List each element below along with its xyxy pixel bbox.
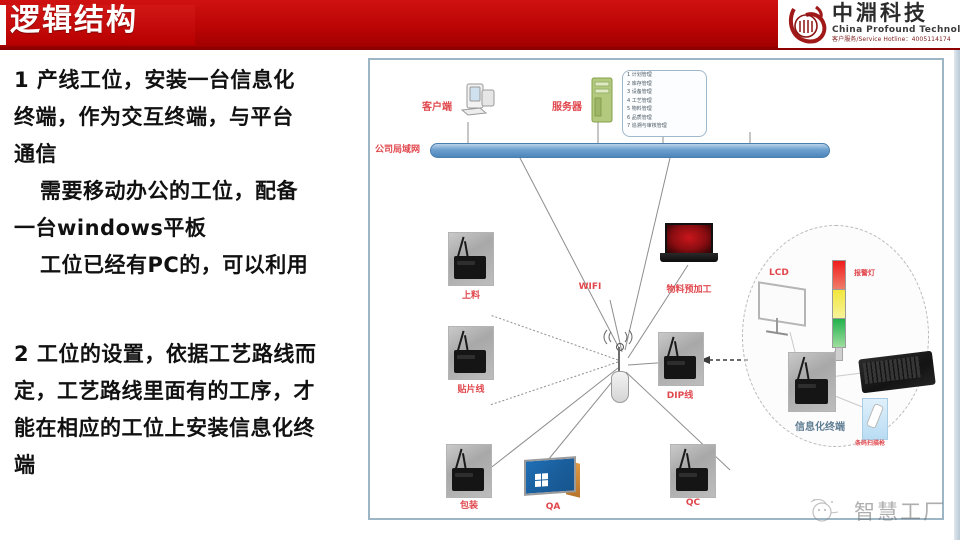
- node-label-smt-line: 贴片线: [446, 382, 496, 395]
- client-pc-icon: [458, 80, 500, 122]
- paragraph-1-line-1: 1 产线工位，安装一台信息化: [14, 62, 362, 99]
- tower-yellow-segment: [832, 289, 846, 319]
- lcd-label: LCD: [769, 268, 789, 278]
- network-topology-diagram: 公司局域网 客户端 服务器 1 计划管理 2 库存管理 3 设备管理 4 工艺管…: [368, 58, 944, 520]
- andon-tower-light-icon: [832, 260, 846, 360]
- paragraph-2-line-1: 2 工位的设置，依据工艺路线而: [14, 336, 362, 373]
- menu-item-1: 1 计划管理: [623, 71, 706, 80]
- menu-item-7: 7 追溯与审核管理: [623, 122, 706, 131]
- ap-pole: [618, 347, 620, 373]
- slide-header: 逻辑结构 中淵科技 China Profound Technology 客户服务…: [0, 0, 960, 50]
- terminal-body: [795, 379, 828, 405]
- menu-item-4: 4 工艺管理: [623, 97, 706, 106]
- paragraph-1: 1 产线工位，安装一台信息化 终端，作为交互终端，与平台 通信 需要移动办公的工…: [14, 62, 362, 284]
- node-label-wifi: WIFI: [570, 282, 610, 292]
- paragraph-1-sub-line-2: 一台windows平板: [14, 210, 362, 247]
- barcode-scanner-icon: [862, 398, 888, 440]
- terminal-body: [664, 356, 696, 379]
- lan-label: 公司局域网: [375, 143, 420, 157]
- company-lan-bar: [430, 143, 830, 158]
- tower-green-segment: [832, 318, 846, 348]
- terminal-body: [452, 468, 484, 491]
- system-function-menu: 1 计划管理 2 库存管理 3 设备管理 4 工艺管理 5 物料管理 6 品质管…: [622, 70, 707, 137]
- paragraph-2: 2 工位的设置，依据工艺路线而 定，工艺路线里面有的工序，才 能在相应的工位上安…: [14, 336, 362, 484]
- paragraph-2-line-2: 定，工艺路线里面有的工序，才: [14, 373, 362, 410]
- menu-item-5: 5 物料管理: [623, 105, 706, 114]
- device-photo-smt-line: [448, 326, 494, 380]
- device-photo-information-terminal: [788, 352, 836, 412]
- node-label-qa: QA: [536, 502, 570, 512]
- tower-base: [835, 347, 843, 361]
- ap-body: [611, 371, 629, 403]
- barcode-scanner-label: 条码扫描枪: [855, 438, 885, 447]
- paragraph-1-sub-line-1: 需要移动办公的工位，配备: [14, 173, 362, 210]
- wechat-official-account-icon: [808, 496, 848, 526]
- laptop-keyboard-base: [660, 253, 718, 262]
- company-logo: 中淵科技 China Profound Technology 客户服务/Serv…: [778, 0, 960, 48]
- lcd-panel: [758, 281, 806, 327]
- device-photo-packaging: [446, 444, 492, 498]
- tablet-screen: [524, 456, 576, 496]
- logo-chinese-name: 中淵科技: [832, 2, 928, 25]
- paragraph-2-line-3: 能在相应的工位上安装信息化终: [14, 410, 362, 447]
- paragraph-1-sub-line-3: 工位已经有PC的，可以利用: [14, 247, 362, 284]
- tower-light-label: 报警灯: [854, 268, 875, 278]
- device-photo-dip-line: [658, 332, 704, 386]
- terminal-body: [454, 350, 486, 373]
- client-label: 客户端: [422, 98, 452, 113]
- node-label-qc: QC: [676, 498, 710, 508]
- node-label-loading: 上料: [452, 288, 490, 301]
- content-text-block: 1 产线工位，安装一台信息化 终端，作为交互终端，与平台 通信 需要移动办公的工…: [14, 62, 362, 484]
- node-label-dip-line: DIP线: [656, 388, 704, 401]
- terminal-body: [676, 468, 708, 491]
- lcd-foot: [766, 330, 788, 335]
- laptop-screen: [665, 223, 713, 253]
- paragraph-1-line-3: 通信: [14, 136, 362, 173]
- information-terminal-label: 信息化终端: [795, 418, 845, 433]
- windows-logo-icon: [535, 473, 549, 488]
- lcd-display-icon: [758, 285, 808, 339]
- watermark-text: 智慧工厂: [854, 496, 946, 526]
- page-title: 逻辑结构: [10, 4, 138, 38]
- tower-red-segment: [832, 260, 846, 290]
- node-label-packaging: 包装: [450, 498, 488, 511]
- menu-item-3: 3 设备管理: [623, 88, 706, 97]
- watermark: 智慧工厂: [808, 496, 946, 526]
- paragraph-1-line-2: 终端，作为交互终端，与平台: [14, 99, 362, 136]
- scanner-gun: [866, 403, 884, 429]
- device-photo-material-preprocess: [660, 223, 718, 265]
- node-label-material-preprocess: 物料预加工: [652, 282, 726, 295]
- logo-english-name: China Profound Technology: [832, 25, 960, 35]
- slide-right-edge: [954, 50, 960, 540]
- keyboard-keys: [863, 356, 921, 384]
- server-label: 服务器: [552, 98, 582, 113]
- device-photo-qc: [670, 444, 716, 498]
- company-seal-icon: [786, 3, 828, 45]
- paragraph-2-line-4: 端: [14, 447, 362, 484]
- device-photo-qa-tablet: [522, 458, 584, 500]
- device-photo-loading: [448, 232, 494, 286]
- terminal-body: [454, 256, 486, 279]
- server-icon: [588, 76, 616, 124]
- wireless-access-point-icon: [602, 335, 638, 403]
- logo-hotline: 客户服务/Service Hotline：4005114174: [832, 36, 951, 43]
- menu-item-2: 2 库存管理: [623, 80, 706, 89]
- menu-item-6: 6 品质管理: [623, 114, 706, 123]
